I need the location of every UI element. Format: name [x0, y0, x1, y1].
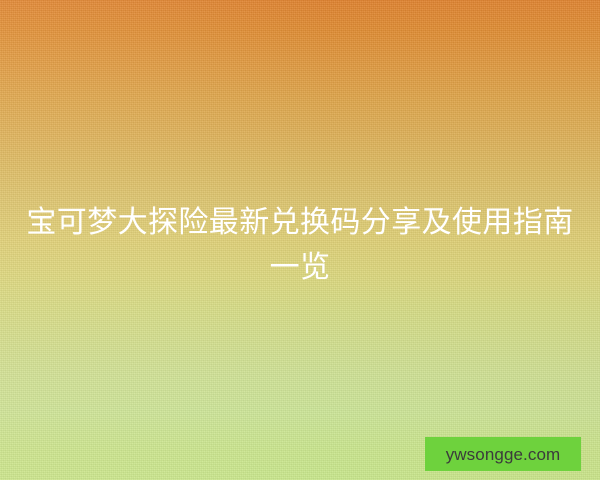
cover-headline: 宝可梦大探险最新兑换码分享及使用指南一览: [0, 200, 600, 290]
cover-image-canvas: 宝可梦大探险最新兑换码分享及使用指南一览 ywsongge.com: [0, 0, 600, 480]
watermark-site-label: ywsongge.com: [446, 446, 561, 463]
watermark-badge: ywsongge.com: [425, 437, 581, 471]
